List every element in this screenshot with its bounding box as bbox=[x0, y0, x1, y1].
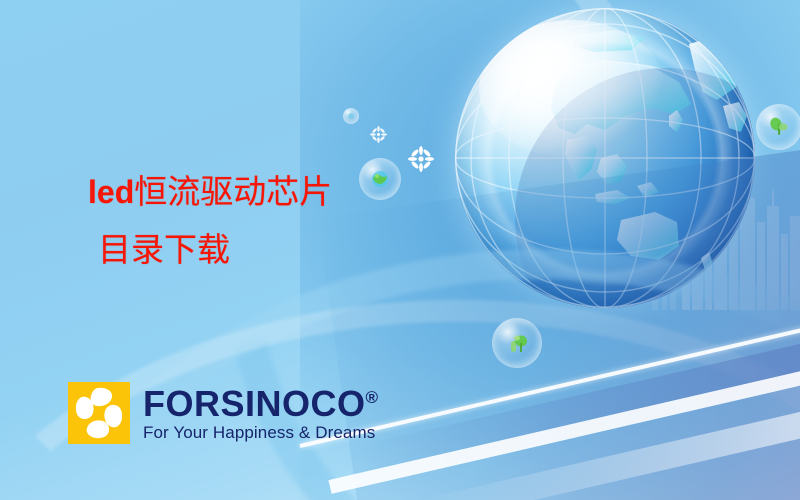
promo-banner: led恒流驱动芯片 目录下载 FORSINOCO® For Your Happi… bbox=[0, 0, 800, 500]
brand-logo[interactable]: FORSINOCO® For Your Happiness & Dreams bbox=[68, 382, 379, 444]
bubble-globe-icon bbox=[359, 158, 401, 200]
starburst-icon bbox=[408, 146, 434, 172]
headline-cjk: 恒流驱动芯片 bbox=[134, 172, 332, 211]
page-title: led恒流驱动芯片 目录下载 bbox=[88, 163, 332, 279]
headline-latin: led bbox=[88, 174, 134, 210]
registered-mark-icon: ® bbox=[366, 388, 379, 407]
headline-line-2: 目录下载 bbox=[98, 221, 332, 279]
bubble-small-icon bbox=[343, 108, 359, 124]
brand-wordmark: FORSINOCO bbox=[143, 383, 366, 424]
brand-tagline: For Your Happiness & Dreams bbox=[143, 423, 379, 443]
bubble-tree-icon bbox=[492, 318, 542, 368]
starburst-icon bbox=[370, 126, 387, 143]
brand-name: FORSINOCO® bbox=[143, 386, 379, 422]
four-petal-pinwheel-icon bbox=[68, 382, 130, 444]
bubble-leaf-icon bbox=[756, 104, 800, 150]
